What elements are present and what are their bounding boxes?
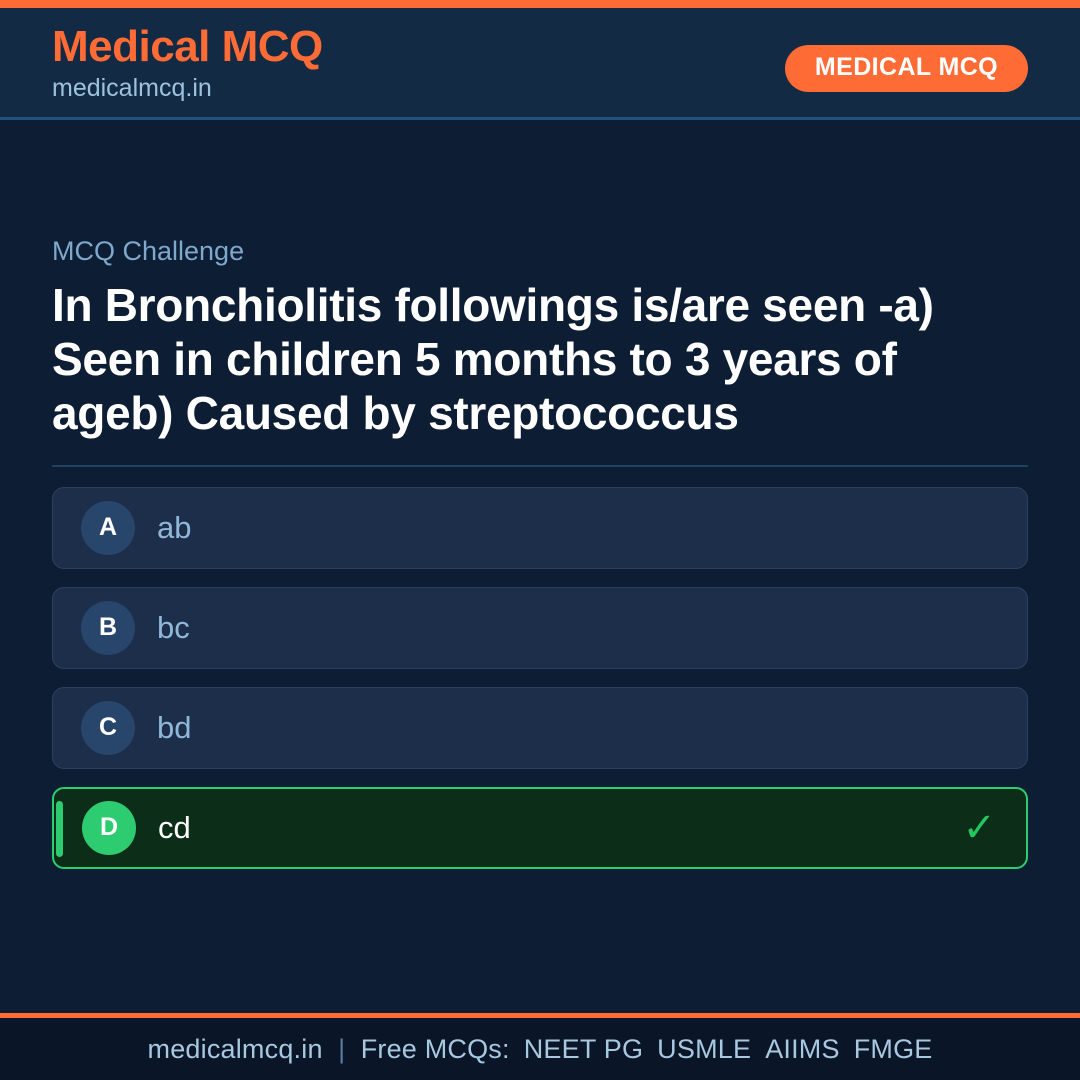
option-c-letter: C — [81, 701, 135, 755]
option-a-text: ab — [157, 511, 191, 545]
content-divider — [52, 465, 1028, 467]
main-content: MCQ Challenge In Bronchiolitis following… — [0, 123, 1080, 1013]
header-badge: MEDICAL MCQ — [785, 45, 1028, 92]
footer-exam-neetpg: NEET PG — [524, 1034, 643, 1065]
option-b-text: bc — [157, 611, 190, 645]
options-list: A ab B bc C bd D cd ✓ — [52, 487, 1028, 869]
option-d-letter: D — [82, 801, 136, 855]
footer-separator: | — [323, 1034, 361, 1065]
brand-subtitle: medicalmcq.in — [52, 73, 323, 103]
footer-site: medicalmcq.in — [148, 1034, 323, 1065]
page-header: Medical MCQ medicalmcq.in MEDICAL MCQ — [0, 8, 1080, 120]
footer-exam-aiims: AIIMS — [765, 1034, 840, 1065]
option-b[interactable]: B bc — [52, 587, 1028, 669]
footer-exam-fmge: FMGE — [854, 1034, 933, 1065]
brand-block: Medical MCQ medicalmcq.in — [52, 22, 323, 103]
option-b-letter: B — [81, 601, 135, 655]
check-icon: ✓ — [962, 808, 996, 848]
correct-accent-bar — [56, 801, 63, 857]
option-a-letter: A — [81, 501, 135, 555]
footer-exam-usmle: USMLE — [657, 1034, 751, 1065]
page-footer: medicalmcq.in | Free MCQs: NEET PG USMLE… — [0, 1013, 1080, 1080]
option-d-text: cd — [158, 811, 191, 845]
question-text: In Bronchiolitis followings is/are seen … — [52, 279, 1012, 440]
brand-title: Medical MCQ — [52, 22, 323, 71]
option-d[interactable]: D cd ✓ — [52, 787, 1028, 869]
top-accent-bar — [0, 0, 1080, 8]
option-a[interactable]: A ab — [52, 487, 1028, 569]
option-c[interactable]: C bd — [52, 687, 1028, 769]
footer-free-label: Free MCQs: — [361, 1034, 510, 1065]
option-c-text: bd — [157, 711, 191, 745]
eyebrow-label: MCQ Challenge — [52, 235, 1028, 267]
